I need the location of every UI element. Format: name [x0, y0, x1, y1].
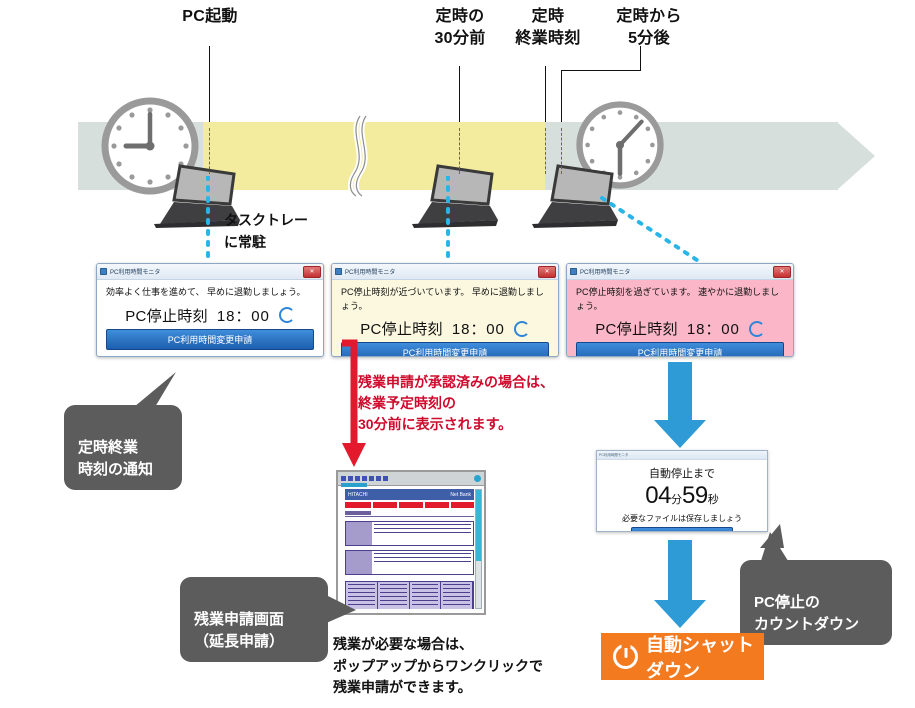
dialog-normal-stoptime: PC停止時刻 18：00	[106, 305, 314, 326]
table-column	[410, 582, 442, 609]
countdown-heading: 自動停止まで	[597, 465, 767, 481]
dialog-warning-title: PC利用時間モニタ	[345, 267, 535, 276]
page-navbar[interactable]	[345, 502, 474, 508]
dialog-normal-body: 効率よく仕事を進めて、 早めに退勤しましょう。 PC停止時刻 18：00 PC利…	[97, 280, 323, 357]
toolbar-icon[interactable]	[369, 476, 374, 481]
countdown-timer: 04分59秒	[597, 482, 767, 510]
countdown-titlebar: PC利用時間モニタ	[597, 451, 767, 460]
callout-end-notice-text: 定時終業 時刻の通知	[78, 439, 153, 478]
connector-evening	[600, 196, 710, 266]
marker-line-pc-start	[209, 128, 210, 174]
leader-line-regular-end	[545, 66, 546, 128]
stoptime-value: 18：00	[217, 305, 270, 326]
marker-line-regular-end	[545, 128, 546, 174]
callout-end-notice-tail	[128, 372, 180, 414]
table-column	[441, 582, 473, 609]
timeline-label-pc-start: PC起動	[155, 6, 265, 28]
blue-arrow-to-shutdown	[652, 540, 708, 630]
leader-line-pc-start	[209, 46, 210, 128]
refresh-icon[interactable]	[279, 307, 295, 323]
power-icon	[613, 644, 638, 669]
callout-shutdown-countdown-text: PC停止の カウントダウン	[754, 594, 859, 633]
browser-page-content: HITACHI Net Bank	[345, 489, 474, 609]
dialog-normal[interactable]: PC利用時間モニタ ✕ 効率よく仕事を進めて、 早めに退勤しましょう。 PC停止…	[96, 263, 324, 357]
countdown-note: 必要なファイルは保存しましょう	[597, 513, 767, 524]
auto-shutdown-banner: 自動シャットダウン	[601, 633, 764, 680]
callout-overtime-screen: 残業申請画面 （延長申請）	[180, 577, 328, 662]
callout-end-notice: 定時終業 時刻の通知	[64, 405, 182, 490]
brand-label: HITACHI	[348, 492, 368, 498]
dialog-warning-message: PC停止時刻が近づいています。 早めに退勤しましょう。	[341, 286, 549, 313]
page-header: HITACHI Net Bank	[345, 489, 474, 500]
marker-line-five-min	[561, 128, 562, 174]
countdown-seconds: 59	[682, 482, 708, 509]
close-icon[interactable]: ✕	[303, 266, 321, 278]
table-column	[378, 582, 410, 609]
note-overtime-apply: 残業が必要な場合は、 ポップアップからワンクリックで 残業申請ができます。	[333, 634, 543, 699]
browser-address-bar[interactable]	[341, 483, 367, 487]
form-field-column[interactable]	[372, 551, 473, 574]
data-table	[345, 581, 474, 609]
callout-overtime-screen-text: 残業申請画面 （延長申請）	[194, 611, 284, 650]
form-label-column	[346, 522, 372, 545]
toolbar-icon[interactable]	[362, 476, 367, 481]
breadcrumb	[345, 511, 371, 515]
toolbar-icon[interactable]	[348, 476, 353, 481]
toolbar-icon[interactable]	[341, 476, 346, 481]
countdown-minutes: 04	[645, 482, 671, 509]
change-request-button[interactable]: PC利用時間変更申請	[106, 329, 314, 350]
leader-line-five-min	[561, 70, 562, 128]
dialog-normal-titlebar: PC利用時間モニタ ✕	[97, 264, 323, 280]
stoptime-value: 18：00	[452, 318, 505, 339]
app-icon	[570, 268, 577, 275]
close-icon[interactable]: ✕	[538, 266, 556, 278]
change-request-button[interactable]: PC利用時間変更申請	[576, 342, 784, 357]
countdown-dialog[interactable]: PC利用時間モニタ 自動停止まで 04分59秒 必要なファイルは保存しましょう …	[596, 450, 768, 532]
dialog-normal-title: PC利用時間モニタ	[110, 267, 300, 276]
auto-shutdown-label: 自動シャットダウン	[646, 631, 764, 683]
dialog-normal-message: 効率よく仕事を進めて、 早めに退勤しましょう。	[106, 286, 314, 300]
marker-line-thirty-min	[459, 128, 460, 174]
countdown-minutes-unit: 分	[671, 494, 682, 506]
callout-overtime-screen-tail	[324, 592, 358, 628]
dialog-overdue-body: PC停止時刻を過ぎています。 速やかに退勤しましょう。 PC停止時刻 18：00…	[567, 280, 793, 357]
service-label: Net Bank	[450, 492, 471, 498]
dialog-warning-titlebar: PC利用時間モニタ ✕	[332, 264, 558, 280]
toolbar-icon[interactable]	[355, 476, 360, 481]
countdown-seconds-unit: 秒	[708, 494, 719, 506]
countdown-change-request-button[interactable]: PC利用時間変更申請	[631, 527, 733, 532]
leader-line-five-min-stub	[640, 46, 641, 71]
app-icon	[335, 268, 342, 275]
form-field-column[interactable]	[372, 522, 473, 545]
dialog-overdue-title: PC利用時間モニタ	[580, 267, 770, 276]
close-icon[interactable]: ✕	[773, 266, 791, 278]
timeline-break-icon	[340, 114, 376, 198]
connector-midday	[438, 176, 458, 262]
connector-morning	[198, 176, 218, 262]
stoptime-label: PC停止時刻	[125, 305, 208, 326]
refresh-icon[interactable]	[514, 321, 530, 337]
divider	[345, 516, 474, 517]
callout-countdown-pointer	[760, 524, 786, 550]
form-section[interactable]	[345, 521, 474, 546]
timeline-label-five-min-after: 定時から 5分後	[594, 6, 704, 49]
red-arrow-to-browser	[340, 335, 400, 475]
dialog-overdue[interactable]: PC利用時間モニタ ✕ PC停止時刻を過ぎています。 速やかに退勤しましょう。 …	[566, 263, 794, 357]
blue-arrow-to-countdown	[652, 362, 708, 450]
form-section[interactable]	[345, 550, 474, 575]
leader-line-thirty-min	[459, 66, 460, 128]
dialog-overdue-stoptime: PC停止時刻 18：00	[576, 318, 784, 339]
scrollbar[interactable]	[475, 489, 482, 609]
form-label-column	[346, 551, 372, 574]
toolbar-icon[interactable]	[383, 476, 388, 481]
refresh-icon[interactable]	[749, 321, 765, 337]
timeline-band-arrowhead	[837, 122, 875, 190]
leader-bracket-five-min	[561, 70, 641, 71]
dialog-overdue-message: PC停止時刻を過ぎています。 速やかに退勤しましょう。	[576, 286, 784, 313]
app-icon	[100, 268, 107, 275]
toolbar-icon[interactable]	[376, 476, 381, 481]
stoptime-value: 18：00	[687, 318, 740, 339]
stoptime-label: PC停止時刻	[595, 318, 678, 339]
tasktray-note: タスクトレー に常駐	[224, 210, 308, 253]
overtime-request-browser[interactable]: HITACHI Net Bank	[336, 470, 486, 615]
timeline-label-regular-end: 定時 終業時刻	[498, 6, 598, 49]
browser-logo-icon	[474, 475, 481, 482]
dialog-overdue-titlebar: PC利用時間モニタ ✕	[567, 264, 793, 280]
